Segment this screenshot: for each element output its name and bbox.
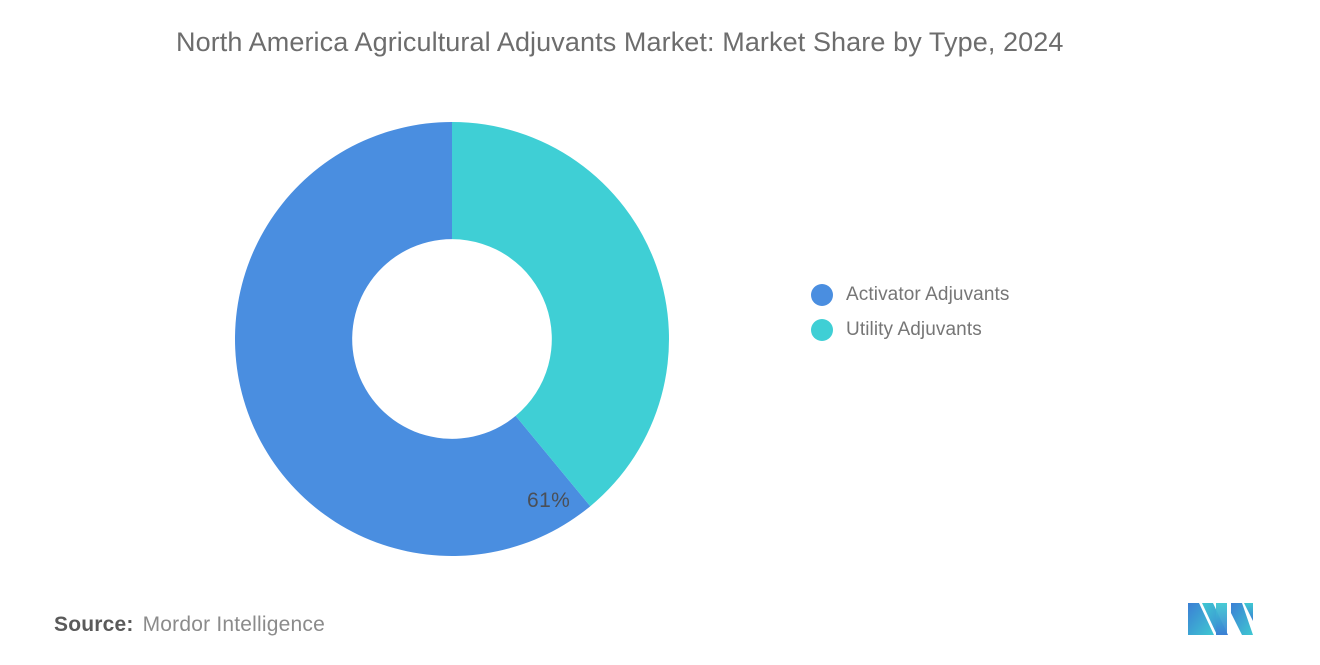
chart-legend: Activator Adjuvants Utility Adjuvants — [811, 283, 1009, 342]
slice-label-activator-adjuvants: 61% — [527, 489, 570, 513]
source-name: Mordor Intelligence — [143, 613, 325, 637]
page-title: North America Agricultural Adjuvants Mar… — [176, 27, 1256, 58]
donut-slice-group — [235, 122, 669, 556]
chart-card: North America Agricultural Adjuvants Mar… — [0, 0, 1320, 665]
legend-swatch-icon-utility — [811, 319, 833, 341]
legend-label-activator-adjuvants: Activator Adjuvants — [846, 284, 1009, 306]
legend-item-utility-adjuvants[interactable]: Utility Adjuvants — [811, 318, 1009, 342]
source-label: Source: — [54, 613, 134, 637]
legend-swatch-icon-activator — [811, 284, 833, 306]
legend-label-utility-adjuvants: Utility Adjuvants — [846, 319, 982, 341]
legend-item-activator-adjuvants[interactable]: Activator Adjuvants — [811, 283, 1009, 307]
mordor-intelligence-logo-icon — [1186, 597, 1256, 639]
source-attribution: Source: Mordor Intelligence — [54, 613, 325, 637]
donut-chart: 61% — [234, 121, 670, 558]
logo-mark-svg — [1186, 597, 1256, 639]
donut-chart-svg — [234, 121, 670, 558]
